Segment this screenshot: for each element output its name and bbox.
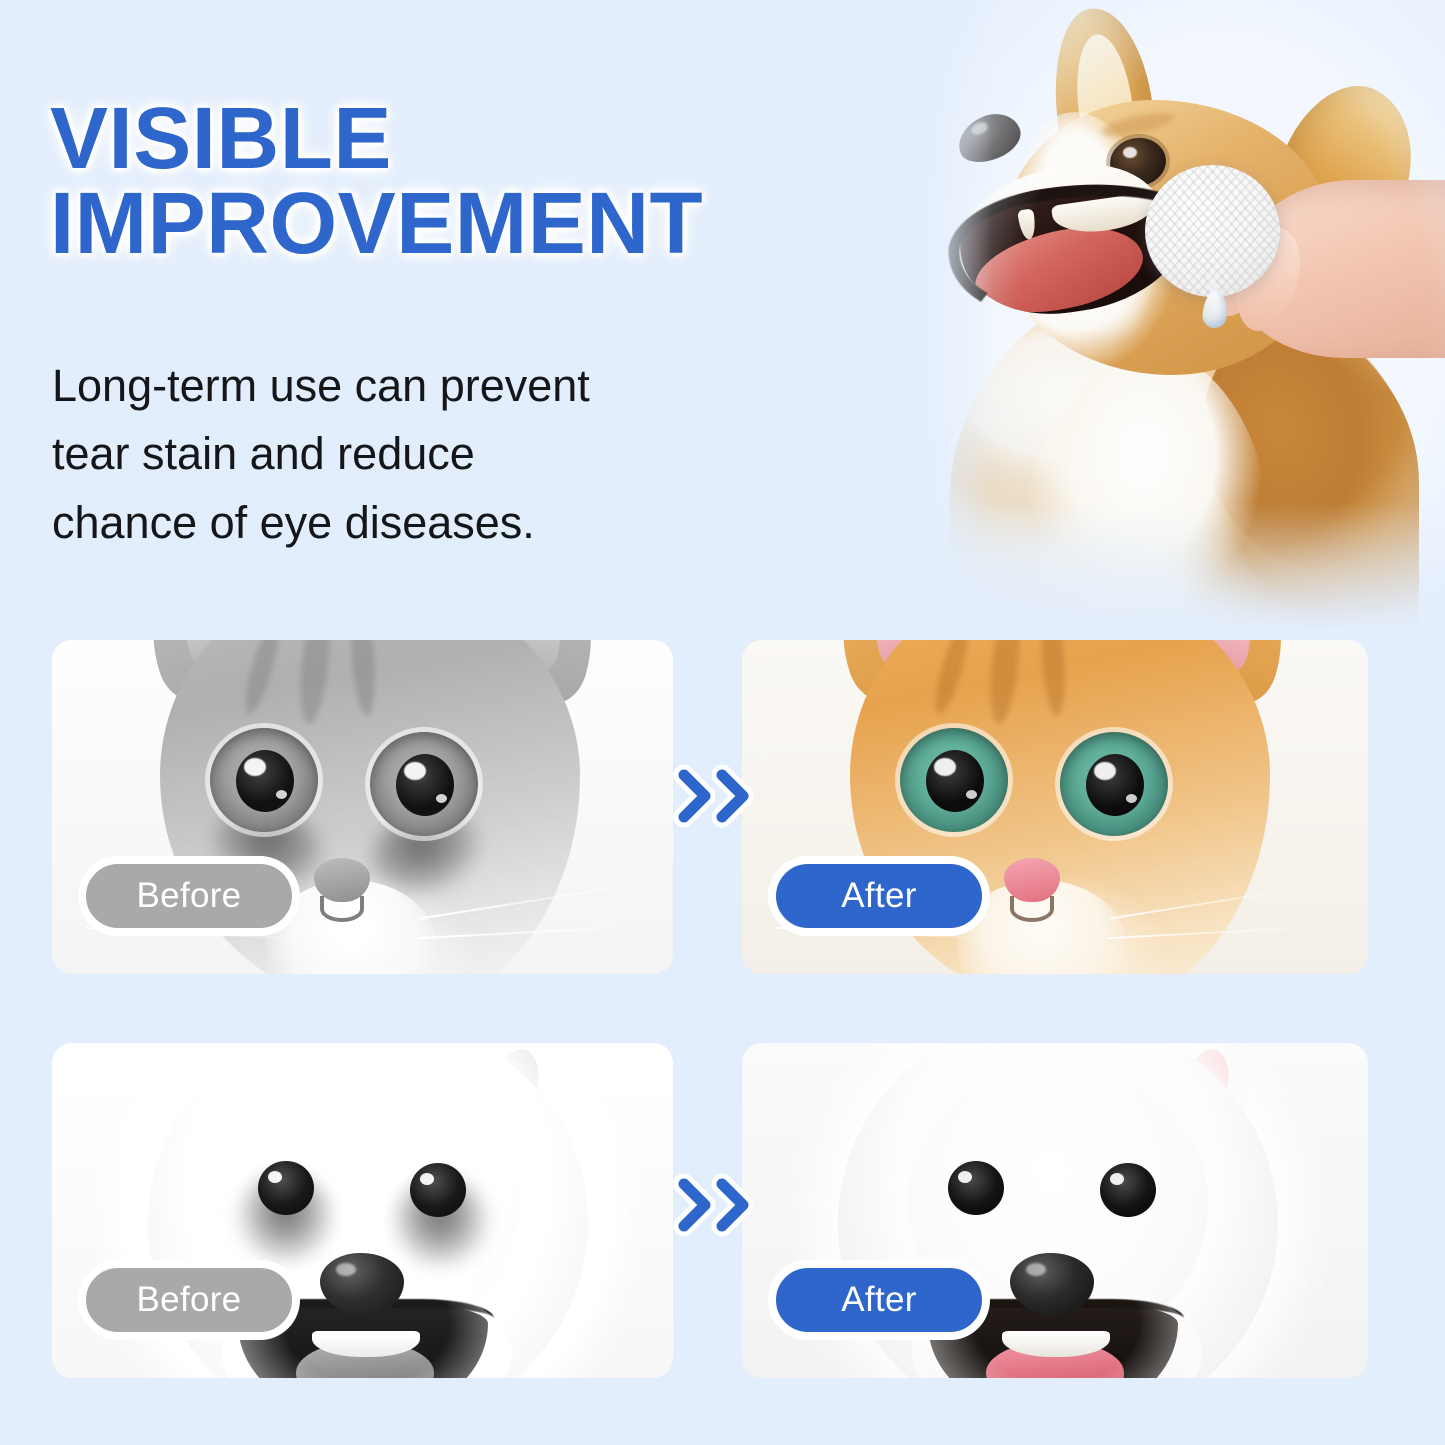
double-chevron-right-icon <box>672 757 758 835</box>
status-badge-after: After <box>768 856 990 936</box>
pomeranian-left-eye <box>258 1161 314 1215</box>
pomeranian-nose-highlight <box>1026 1263 1046 1276</box>
double-chevron-right-icon <box>672 1166 758 1244</box>
pomeranian-right-eye <box>410 1163 466 1217</box>
kitten-eye-highlight <box>1094 762 1116 780</box>
kitten-eye-highlight <box>244 758 266 776</box>
kitten-eye-highlight <box>404 762 426 780</box>
corgi-eye-highlight <box>1123 147 1137 158</box>
status-badge-before: Before <box>78 856 300 936</box>
pomeranian-left-eye <box>948 1161 1004 1215</box>
pomeranian-right-eye <box>1100 1163 1156 1217</box>
comparison-image-after-pomeranian: After <box>742 1043 1368 1378</box>
kitten-right-pupil <box>396 754 454 816</box>
kitten-mouth <box>320 896 364 922</box>
kitten-right-pupil <box>1086 754 1144 816</box>
pomeranian-eye-highlight <box>958 1171 972 1183</box>
pomeranian-eye-highlight <box>1110 1173 1124 1185</box>
kitten-left-pupil <box>926 750 984 812</box>
kitten-eye-highlight <box>934 758 956 776</box>
comparison-image-after-kitten: After <box>742 640 1368 974</box>
pomeranian-eye-highlight <box>268 1171 282 1183</box>
kitten-eye-highlight <box>276 790 287 799</box>
status-badge-before: Before <box>78 1260 300 1340</box>
status-badge-after: After <box>768 1260 990 1340</box>
kitten-eye-highlight <box>436 794 447 803</box>
page-title: VISIBLE IMPROVEMENT <box>50 96 930 267</box>
hero-product-photo <box>905 0 1445 630</box>
pomeranian-nose-highlight <box>336 1263 356 1276</box>
kitten-eye-highlight <box>966 790 977 799</box>
comparison-image-before-pomeranian: Before <box>52 1043 673 1378</box>
corgi-fang <box>1017 208 1037 240</box>
kitten-left-pupil <box>236 750 294 812</box>
comparison-image-before-kitten: Before <box>52 640 673 974</box>
kitten-eye-highlight <box>1126 794 1137 803</box>
kitten-mouth <box>1010 896 1054 922</box>
pomeranian-eye-highlight <box>420 1173 434 1185</box>
page-subcopy: Long-term use can prevent tear stain and… <box>52 352 842 557</box>
